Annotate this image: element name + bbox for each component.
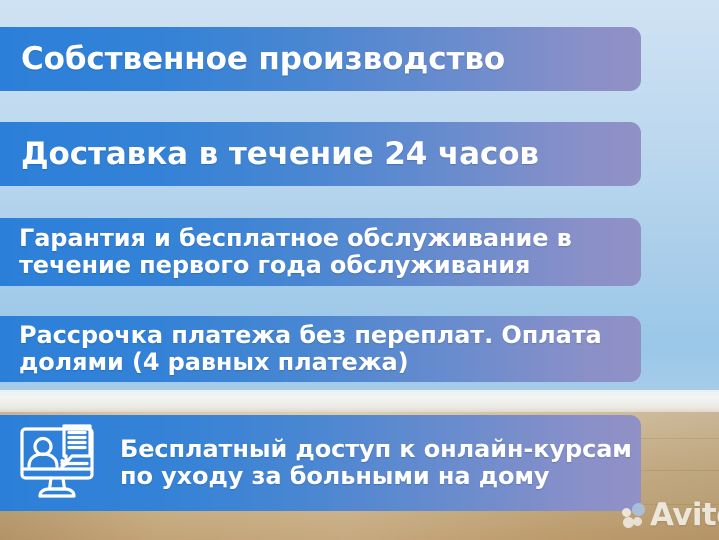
- online-course-monitor-icon: [14, 421, 106, 505]
- avito-wordmark: Avito: [650, 500, 719, 531]
- feature-banner-label: Бесплатный доступ к онлайн-курсам по ухо…: [120, 436, 641, 490]
- feature-banner-label: Собственное производство: [21, 42, 505, 77]
- feature-banner-label: Доставка в течение 24 часов: [21, 137, 539, 172]
- avito-dots-logo: [622, 503, 647, 529]
- feature-banner-delivery: Доставка в течение 24 часов: [0, 122, 641, 186]
- feature-banner-own-production: Собственное производство: [0, 27, 641, 91]
- feature-banner-installment: Рассрочка платежа без переплат. Оплата д…: [0, 316, 641, 382]
- feature-banner-label: Гарантия и бесплатное обслуживание в теч…: [19, 225, 641, 279]
- avito-watermark: Avito: [622, 500, 719, 531]
- feature-banner-online-courses: Бесплатный доступ к онлайн-курсам по ухо…: [0, 415, 641, 511]
- background-baseboard: [0, 390, 719, 414]
- feature-banner-warranty: Гарантия и бесплатное обслуживание в теч…: [0, 218, 641, 286]
- promo-image: Собственное производство Доставка в тече…: [0, 0, 719, 540]
- feature-banner-label: Рассрочка платежа без переплат. Оплата д…: [19, 322, 641, 376]
